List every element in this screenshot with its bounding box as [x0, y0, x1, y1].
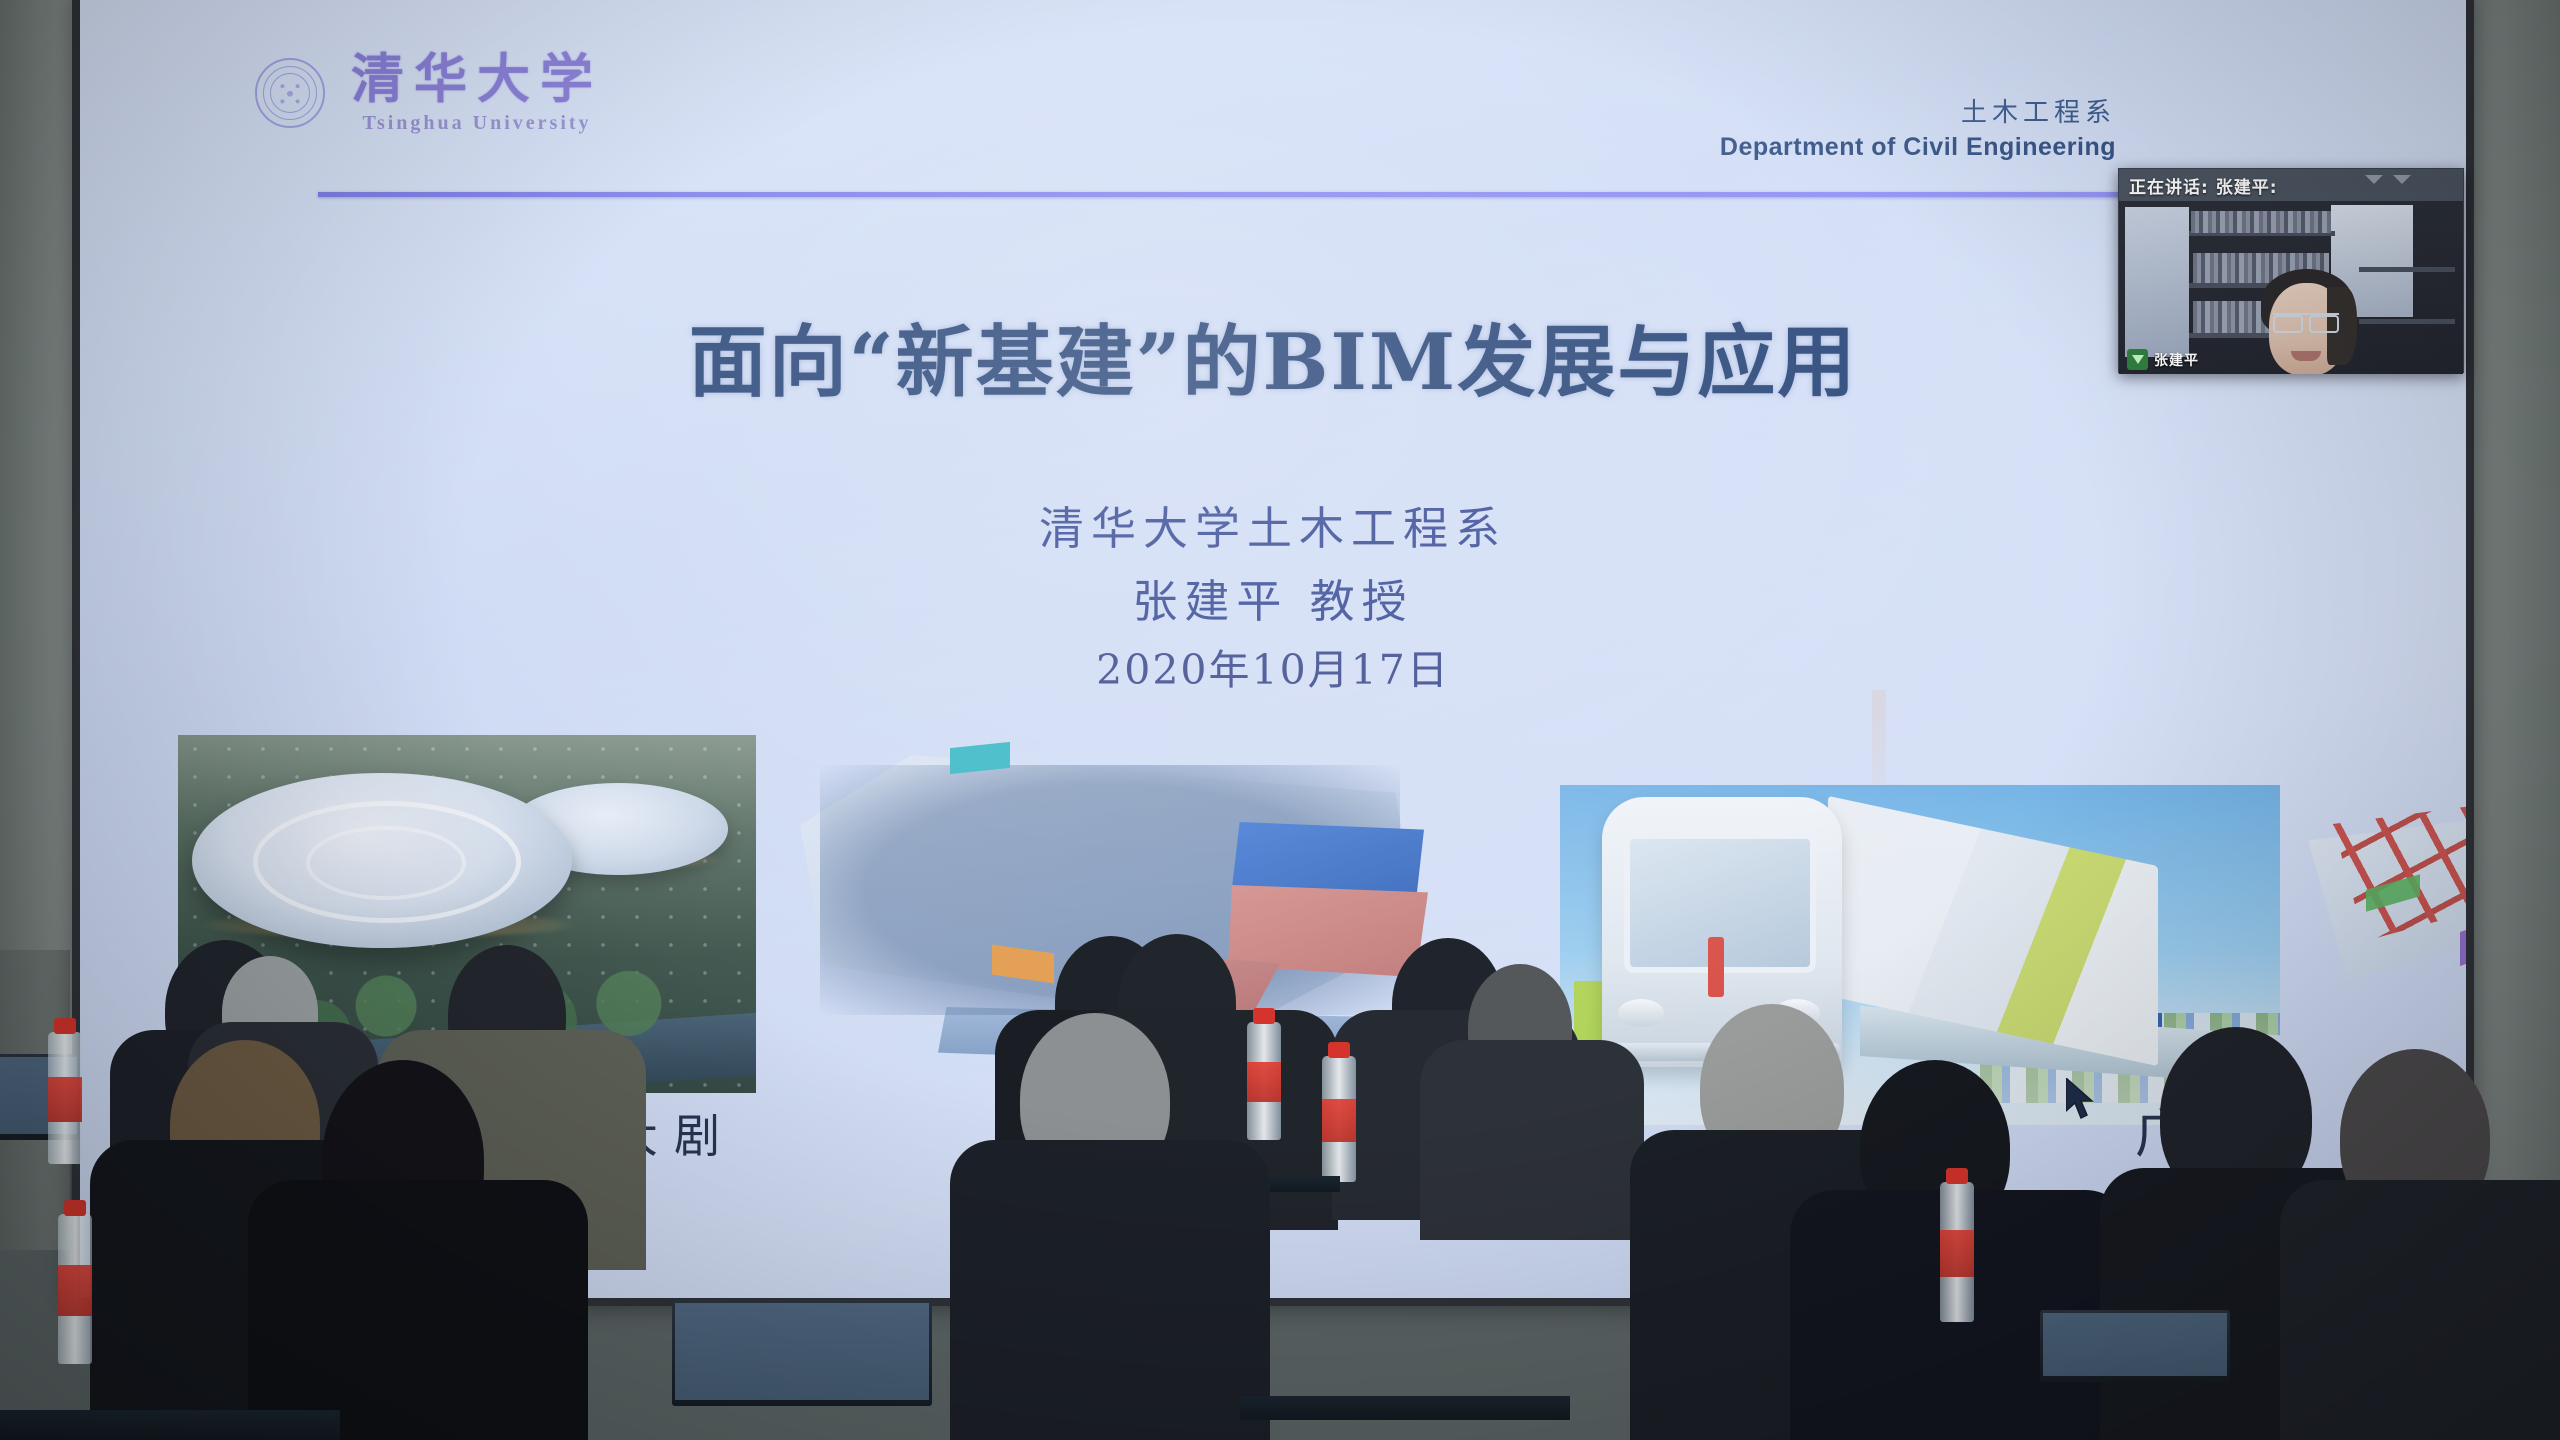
slide-affiliation: 清华大学土木工程系	[80, 492, 2466, 557]
laptop	[2040, 1310, 2230, 1382]
pip-bg-panel-left	[2125, 207, 2189, 357]
slide-date: 2020年10月17日	[80, 636, 2466, 696]
laptop	[672, 1300, 932, 1406]
mic-speaking-icon	[2127, 349, 2148, 370]
university-name-en: Tsinghua University	[362, 112, 591, 135]
tsinghua-seal-icon	[255, 58, 325, 128]
screenshot-stage: 清华大学 Tsinghua University 土木工程系 Departmen…	[0, 0, 2560, 1440]
desk-edge	[1240, 1396, 1570, 1420]
pip-participant-name: 张建平	[2154, 350, 2199, 370]
pip-title-bar[interactable]: 正在讲话: 张建平:	[2119, 169, 2463, 201]
pip-books	[2191, 211, 2331, 233]
department-lockup: 土木工程系 Department of Civil Engineering	[1720, 92, 2116, 162]
image-aerial-stadium-render	[178, 735, 756, 1093]
slide-speaker: 张建平 教授	[80, 565, 2466, 630]
pip-bookshelf-shelf	[2359, 319, 2455, 324]
image-caption-guangzhou: 广州	[2135, 1092, 2275, 1167]
header-divider	[318, 192, 2354, 197]
department-name-en: Department of Civil Engineering	[1720, 133, 2116, 162]
image-caption-stadium: 都大剧	[550, 1100, 736, 1166]
pip-participant-nameplate: 张建平	[2127, 349, 2199, 370]
image-red-structural-bim-model	[2270, 750, 2466, 1050]
desk-edge	[0, 1410, 340, 1440]
pip-bookshelf-shelf	[2359, 267, 2455, 272]
chevron-icon[interactable]	[2393, 175, 2411, 184]
chevron-icon[interactable]	[2365, 175, 2383, 184]
image-metro-train-photo	[1560, 785, 2280, 1125]
pip-person-glasses	[2273, 313, 2339, 329]
projection-screen: 清华大学 Tsinghua University 土木工程系 Departmen…	[80, 0, 2466, 1298]
pip-video-feed[interactable]: 张建平	[2119, 201, 2463, 374]
tsinghua-logo-lockup: 清华大学 Tsinghua University	[255, 52, 603, 135]
department-name-cn: 土木工程系	[1720, 92, 2116, 129]
room-wall-left-lower	[0, 950, 70, 1250]
video-conference-pip[interactable]: 正在讲话: 张建平: 张建平	[2118, 168, 2464, 373]
pip-window-controls[interactable]	[2365, 175, 2411, 184]
image-bim-site-excavation-model	[780, 717, 1460, 1113]
slide-image-strip	[80, 735, 2466, 1155]
university-name-cn: 清华大学	[351, 52, 603, 108]
slide-title: 面向“新基建”的BIM发展与应用	[80, 300, 2466, 412]
pip-speaking-label: 正在讲话: 张建平:	[2129, 173, 2278, 198]
